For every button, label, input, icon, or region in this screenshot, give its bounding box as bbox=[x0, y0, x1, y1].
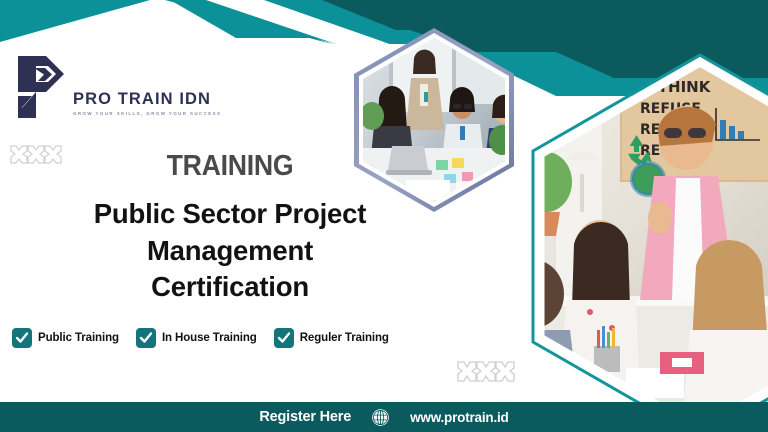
website-url[interactable]: www.protrain.id bbox=[410, 410, 509, 425]
training-type-public[interactable]: Public Training bbox=[12, 328, 119, 348]
training-type-reguler[interactable]: Reguler Training bbox=[274, 328, 389, 348]
svg-text:RE: RE bbox=[640, 143, 660, 159]
brand-logo[interactable]: PRO TRAIN IDN GROW YOUR SKILLS, GROW YOU… bbox=[14, 52, 221, 122]
brand-name: PRO TRAIN IDN bbox=[73, 91, 221, 108]
cross-pattern-icon bbox=[455, 358, 517, 386]
protrain-p-arrow-logo bbox=[14, 52, 66, 122]
title-line-2: Management bbox=[0, 233, 460, 270]
title-line-1: Public Sector Project bbox=[0, 196, 460, 233]
training-type-label: Public Training bbox=[38, 332, 119, 344]
banner-canvas: RETHINK REFUSE RE RE bbox=[0, 0, 768, 432]
check-icon[interactable] bbox=[274, 328, 294, 348]
footer-bar: Register Here www.protrain.id bbox=[0, 402, 768, 432]
brand-tagline: GROW YOUR SKILLS, GROW YOUR SUCCESS bbox=[73, 111, 221, 116]
training-type-in-house[interactable]: In House Training bbox=[136, 328, 257, 348]
check-icon[interactable] bbox=[136, 328, 156, 348]
svg-text:RE: RE bbox=[640, 122, 660, 138]
title-line-3: Certification bbox=[0, 269, 460, 306]
eyebrow-training: TRAINING bbox=[18, 152, 441, 181]
register-here-label[interactable]: Register Here bbox=[259, 409, 351, 425]
training-type-label: Reguler Training bbox=[300, 332, 389, 344]
page-title: Public Sector Project Management Certifi… bbox=[0, 196, 460, 306]
training-types-list: Public Training In House Training Regule… bbox=[12, 328, 462, 348]
globe-icon bbox=[371, 408, 390, 427]
training-type-label: In House Training bbox=[162, 332, 257, 344]
check-icon[interactable] bbox=[12, 328, 32, 348]
